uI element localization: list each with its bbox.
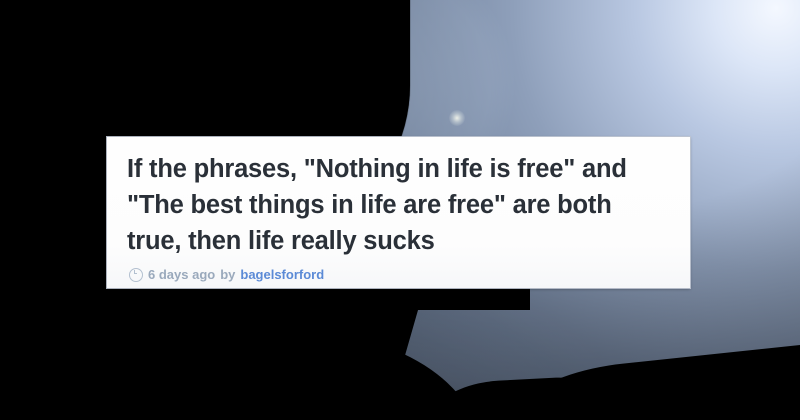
clock-icon <box>129 268 143 282</box>
quote-line-1: If the phrases, "Nothing in life is free… <box>127 151 674 187</box>
by-label: by <box>220 267 235 282</box>
screenshot-canvas: If the phrases, "Nothing in life is free… <box>0 0 800 420</box>
quote-card: If the phrases, "Nothing in life is free… <box>107 137 690 288</box>
quote-line-3: true, then life really sucks <box>127 223 674 259</box>
quote-line-2: "The best things in life are free" are b… <box>127 187 674 223</box>
username-link[interactable]: bagelsforford <box>240 267 324 282</box>
timestamp-label: 6 days ago <box>148 267 215 282</box>
quote-meta: 6 days ago by bagelsforford <box>127 267 674 282</box>
